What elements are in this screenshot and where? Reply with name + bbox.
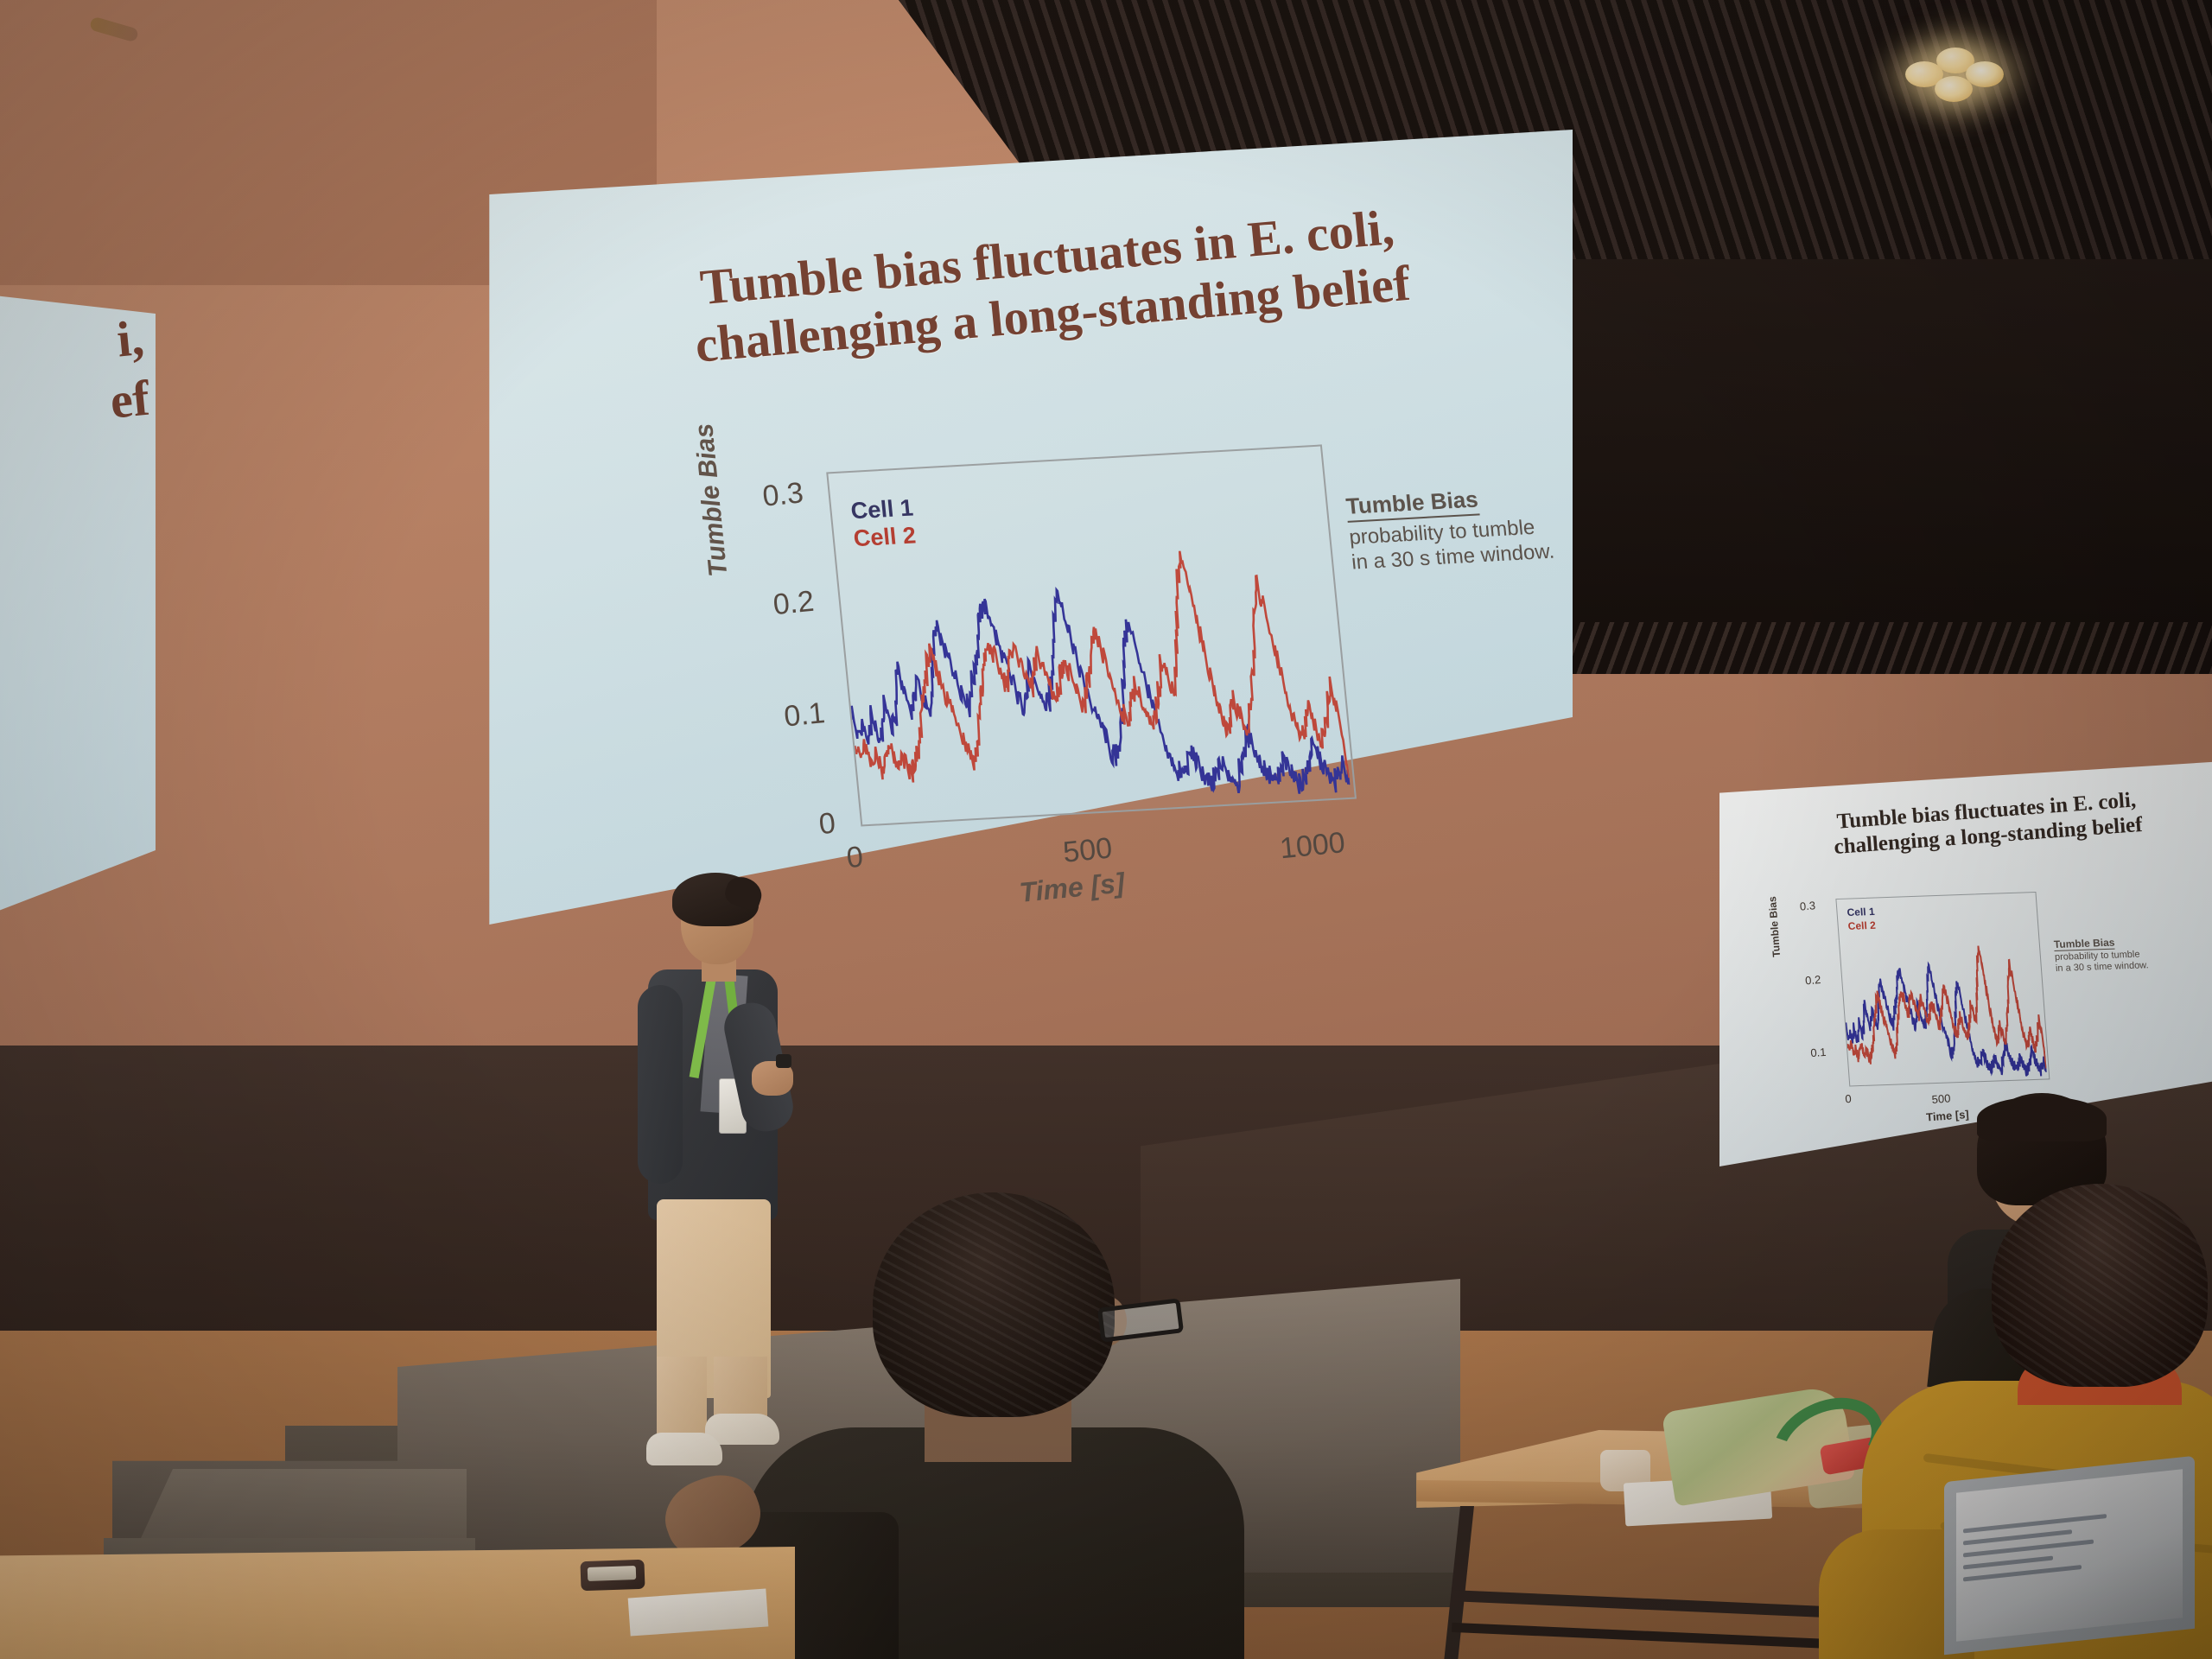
remote-buttons[interactable]	[588, 1566, 637, 1581]
table-leg	[1443, 1506, 1474, 1659]
right-series-line-cell-1	[1841, 961, 2047, 1083]
right-chart-y-tick-0.3: 0.3	[1799, 899, 1815, 912]
laptop-text-line	[1963, 1555, 2053, 1569]
annotation-heading: Tumble Bias	[1344, 486, 1479, 523]
main-slide-chart: Tumble Bias 0.3 0.2 0.1 0 Cell 1 Cell 2 …	[777, 442, 1418, 897]
right-legend-entry-cell-2: Cell 2	[1847, 918, 1876, 933]
legend-entry-cell-1: Cell 1	[849, 494, 914, 525]
clicker-icon	[776, 1054, 791, 1068]
right-chart-y-tick-0.1: 0.1	[1810, 1046, 1827, 1059]
legend-entry-cell-2: Cell 2	[852, 522, 917, 553]
presenter-arm-left	[638, 985, 683, 1184]
staff-hair-front	[1977, 1096, 2107, 1141]
right-annotation-body-2: in a 30 s time window.	[2056, 960, 2152, 975]
right-chart-y-tick-0.2: 0.2	[1805, 973, 1821, 987]
chart-x-tick-0: 0	[845, 841, 865, 876]
right-legend-entry-cell-1: Cell 1	[1847, 906, 1875, 920]
photo-canvas: i, ef Tumble bias fluctuates in E. coli,…	[0, 0, 2212, 1659]
right-chart-x-tick-0: 0	[1845, 1092, 1852, 1105]
chart-y-tick-0.1: 0.1	[783, 696, 827, 734]
laptop-screen-text-lines	[1963, 1513, 2119, 1624]
center-audience-hair-texture	[873, 1192, 1115, 1417]
right-chart-legend: Cell 1 Cell 2	[1847, 906, 1876, 933]
chart-legend: Cell 1 Cell 2	[849, 494, 917, 552]
audience-right-hair-texture	[1992, 1184, 2208, 1387]
series-line-cell-1	[841, 575, 1351, 819]
ceiling-spotlight	[1905, 48, 2009, 99]
right-chart-annotation: Tumble Bias probability to tumble in a 3…	[2053, 933, 2151, 975]
floral-tote-bag	[1668, 1382, 1866, 1495]
open-laptop[interactable]	[1944, 1469, 2203, 1659]
chart-annotation: Tumble Bias probability to tumble in a 3…	[1344, 482, 1560, 575]
lamp-icon	[1966, 61, 2004, 87]
series-line-cell-2	[837, 543, 1349, 804]
chart-y-tick-0: 0	[817, 807, 837, 842]
audience-center-foreground	[726, 1192, 1262, 1659]
chart-x-tick-500: 500	[1062, 831, 1114, 869]
presenter-shoe-left	[646, 1433, 722, 1465]
right-annotation-heading: Tumble Bias	[2053, 937, 2115, 951]
chart-y-tick-0.2: 0.2	[772, 585, 816, 622]
chart-x-tick-1000: 1000	[1278, 826, 1346, 866]
chart-y-tick-0.3: 0.3	[761, 476, 805, 513]
